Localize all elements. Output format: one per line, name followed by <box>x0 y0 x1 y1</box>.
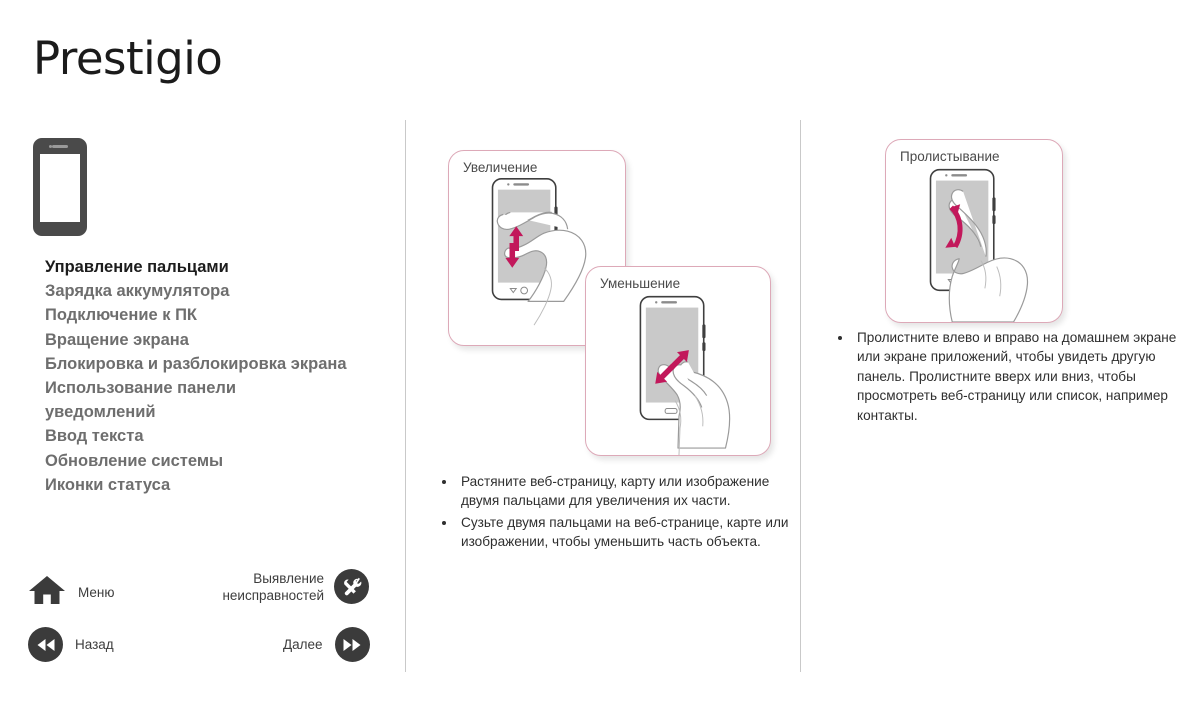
tools-icon <box>334 569 369 604</box>
list-item: Растяните веб-страницу, карту или изобра… <box>430 472 790 511</box>
phone-screen <box>40 154 80 222</box>
phone-speaker <box>52 145 68 148</box>
sidebar-item-notification-panel-line2[interactable]: уведомлений <box>45 400 395 424</box>
pinch-close-gesture-icon <box>586 267 770 455</box>
home-icon <box>28 573 66 612</box>
list-item: Пролистните влево и вправо на домашнем э… <box>826 328 1181 425</box>
middle-bullet-list: Растяните веб-страницу, карту или изобра… <box>430 472 790 554</box>
sidebar-item-finger-control[interactable]: Управление пальцами <box>45 255 395 279</box>
sidebar-item-screen-rotation[interactable]: Вращение экрана <box>45 328 395 352</box>
back-button[interactable]: Назад <box>28 627 114 662</box>
rewind-icon <box>28 627 63 662</box>
next-label: Далее <box>283 637 323 653</box>
sidebar-item-pc-connection[interactable]: Подключение к ПК <box>45 303 395 327</box>
list-item: Сузьте двумя пальцами на веб-странице, к… <box>430 513 790 552</box>
sidebar-item-system-update[interactable]: Обновление системы <box>45 449 395 473</box>
sidebar-item-status-icons[interactable]: Иконки статуса <box>45 473 395 497</box>
card-zoom-out: Уменьшение <box>585 266 771 456</box>
troubleshooting-label: Выявление неисправностей <box>192 570 324 604</box>
topic-list: Управление пальцами Зарядка аккумулятора… <box>45 255 395 497</box>
sidebar-item-battery-charging[interactable]: Зарядка аккумулятора <box>45 279 395 303</box>
card-scroll: Пролистывание <box>885 139 1063 323</box>
menu-label: Меню <box>78 585 115 601</box>
middle-column: Увеличение Уменьшение <box>405 0 800 713</box>
menu-button[interactable]: Меню <box>28 573 115 612</box>
fast-forward-icon <box>335 627 370 662</box>
smartphone-outline-icon <box>33 138 87 236</box>
sidebar-item-screen-lock[interactable]: Блокировка и разблокировка экрана <box>45 352 395 376</box>
sidebar: Управление пальцами Зарядка аккумулятора… <box>0 0 405 713</box>
back-label: Назад <box>75 637 114 653</box>
next-button[interactable]: Далее <box>283 627 370 662</box>
bottom-navigation: Меню Назад Выявление неисправностей <box>0 565 405 680</box>
right-column: Пролистывание Проли <box>800 0 1189 713</box>
right-bullet-list: Пролистните влево и вправо на домашнем э… <box>826 328 1181 427</box>
sidebar-item-text-input[interactable]: Ввод текста <box>45 424 395 448</box>
sidebar-item-notification-panel-line1[interactable]: Использование панели <box>45 376 395 400</box>
swipe-gesture-icon <box>886 140 1062 322</box>
troubleshooting-button[interactable]: Выявление неисправностей <box>192 569 369 604</box>
